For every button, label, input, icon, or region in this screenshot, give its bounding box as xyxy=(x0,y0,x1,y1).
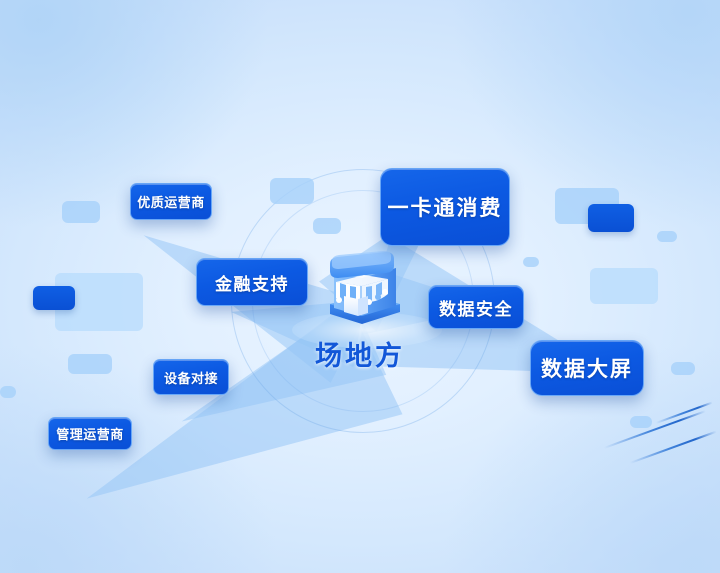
decorative-rect-4 xyxy=(33,286,75,310)
decorative-rect-1 xyxy=(270,178,314,204)
feature-card-label: 数据大屏 xyxy=(541,353,633,383)
feature-card-yikatong-xiaofei[interactable]: 一卡通消费 xyxy=(380,168,510,246)
decorative-rect-11 xyxy=(590,268,658,304)
decorative-rect-13 xyxy=(630,416,652,428)
decorative-rect-10 xyxy=(523,257,539,267)
feature-card-label: 数据安全 xyxy=(439,295,513,320)
decorative-rect-0 xyxy=(62,201,100,223)
feature-card-label: 管理运营商 xyxy=(56,424,124,443)
feature-card-shuju-daping[interactable]: 数据大屏 xyxy=(530,340,644,396)
feature-card-label: 金融支持 xyxy=(215,270,289,295)
feature-card-youzhi-yunyingshang[interactable]: 优质运营商 xyxy=(130,183,212,220)
feature-card-label: 一卡通消费 xyxy=(388,192,503,222)
decorative-rect-8 xyxy=(588,204,634,232)
infographic-canvas: 场地方 一卡通消费金融支持数据安全数据大屏优质运营商设备对接管理运营商 xyxy=(0,0,720,573)
feature-card-jinrong-zhichi[interactable]: 金融支持 xyxy=(196,258,308,306)
feature-card-shebei-duijie[interactable]: 设备对接 xyxy=(153,359,229,395)
feature-card-shuju-anquan[interactable]: 数据安全 xyxy=(428,285,524,329)
decorative-rect-6 xyxy=(0,386,16,398)
decorative-rect-2 xyxy=(313,218,341,234)
feature-card-label: 优质运营商 xyxy=(137,192,205,211)
decorative-rect-12 xyxy=(671,362,695,375)
shop-ground-glow xyxy=(292,312,442,348)
feature-card-label: 设备对接 xyxy=(164,368,218,387)
feature-card-guanli-yunyingshang[interactable]: 管理运营商 xyxy=(48,417,132,450)
decorative-rect-9 xyxy=(657,231,677,242)
decorative-rect-5 xyxy=(68,354,112,374)
